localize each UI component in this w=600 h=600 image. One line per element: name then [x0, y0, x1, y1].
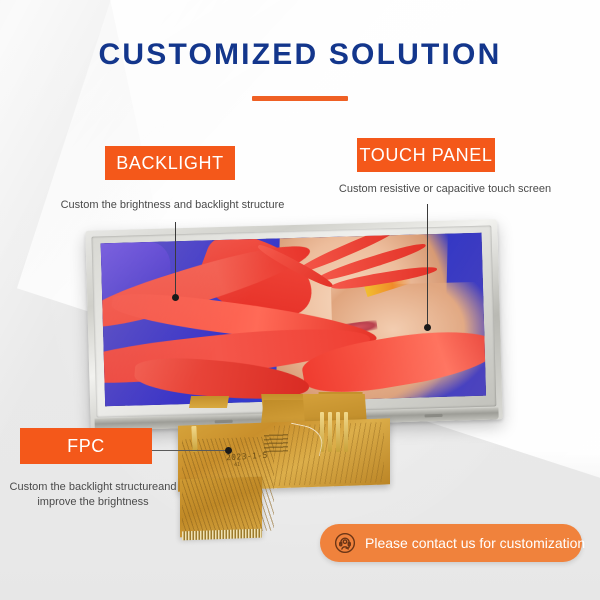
badge-touch-panel: TOUCH PANEL [357, 138, 495, 172]
contact-cta-label: Please contact us for customization [365, 535, 585, 551]
leader-dot-backlight [172, 294, 179, 301]
fpc-gold-pad [328, 412, 332, 452]
fpc-solder-pads [264, 434, 288, 453]
caption-fpc: Custom the backlight structureand improv… [8, 480, 178, 510]
fpc-gold-pad [344, 412, 348, 452]
title-underline-rule [252, 96, 348, 101]
page-title: CUSTOMIZED SOLUTION [0, 38, 600, 72]
leader-line-backlight [175, 222, 176, 298]
fpc-gold-pad [336, 412, 340, 452]
badge-backlight: BACKLIGHT [105, 146, 235, 180]
screen-artwork [101, 233, 486, 407]
badge-fpc: FPC [20, 428, 152, 464]
lcd-screen [101, 233, 486, 407]
artwork-screen-sheen [101, 233, 486, 407]
leader-dot-fpc [225, 447, 232, 454]
lcd-edge-notch [425, 414, 443, 418]
contact-cta-button[interactable]: Please contact us for customization [320, 524, 582, 562]
fpc-small-marking: 41 [234, 462, 240, 468]
fpc-contact-fingers [182, 529, 262, 541]
leader-dot-touch-panel [424, 324, 431, 331]
poster-canvas: CUSTOMIZED SOLUTION [0, 0, 600, 600]
support-headset-icon [334, 532, 356, 554]
fpc-flex-circuit: 2023-1-5 41 [178, 404, 390, 544]
caption-backlight: Custom the brightness and backlight stru… [55, 198, 290, 213]
caption-touch-panel: Custom resistive or capacitive touch scr… [320, 182, 570, 197]
leader-line-fpc [152, 450, 230, 451]
leader-line-touch-panel [427, 204, 428, 328]
